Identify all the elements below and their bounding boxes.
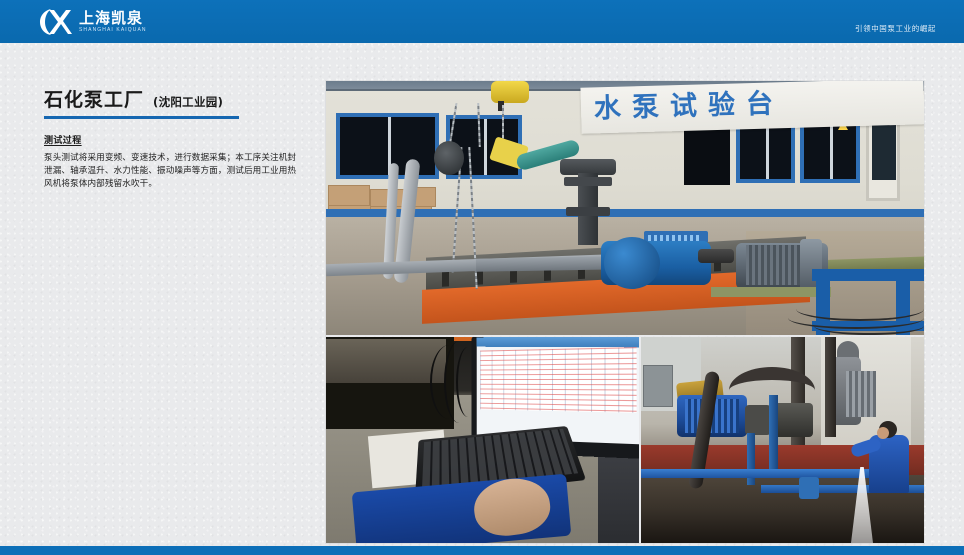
wooden-shelf — [326, 339, 446, 383]
motor-base-frame — [711, 287, 831, 297]
photo-pump-test-bench: 水泵试验台 — [326, 81, 924, 335]
entry-door — [866, 115, 900, 201]
photo-collage: 水泵试验台 — [326, 81, 924, 543]
electric-hoist — [491, 81, 529, 103]
motor-cooling-fins — [746, 245, 806, 285]
photo-br-scene — [641, 337, 924, 543]
pipe-flange — [434, 141, 464, 175]
window — [336, 113, 439, 179]
section-label: 测试过程 — [44, 133, 302, 146]
floor-shadow — [641, 507, 924, 543]
wall-panel-box — [643, 365, 673, 407]
photo-data-acquisition-station — [326, 337, 639, 543]
software-title-bar — [477, 337, 639, 347]
valve-flange — [564, 177, 612, 186]
blue-process-pipe — [641, 469, 891, 478]
valve-flange — [566, 207, 610, 216]
lifting-chain — [502, 105, 504, 141]
pump-volute — [604, 237, 660, 289]
blue-support-column — [769, 395, 778, 477]
carton — [328, 185, 370, 207]
text-column: 石化泵工厂 (沈阳工业园) 测试过程 泵头测试将采用变频、变速技术，进行数据采集… — [44, 85, 302, 191]
photo-bl-scene — [326, 337, 639, 543]
pump-shaft-coupling — [698, 249, 734, 263]
title-underline-rule — [44, 116, 239, 119]
worker-face — [877, 427, 889, 439]
slide-canvas: 石化泵工厂 (沈阳工业园) 测试过程 泵头测试将采用变频、变速技术，进行数据采集… — [0, 43, 964, 546]
brand-logo-text: 上海凯泉 SHANGHAI KAIQUAN — [79, 10, 147, 34]
photo-skid-piping-test — [641, 337, 924, 543]
brand-name-en: SHANGHAI KAIQUAN — [79, 27, 147, 34]
title-subtitle: (沈阳工业园) — [153, 94, 223, 110]
photo-top-scene: 水泵试验台 — [326, 81, 924, 335]
kaiquan-x-logo-icon — [38, 7, 72, 37]
worker — [869, 421, 909, 495]
vertical-pipe — [825, 337, 836, 437]
section-body-text: 泵头测试将采用变频、变速技术，进行数据采集；本工序关注机封泄漏、轴承温升、水力性… — [44, 152, 302, 191]
brand-name-cn: 上海凯泉 — [79, 10, 147, 26]
power-cable — [814, 317, 924, 335]
heat-exchanger — [846, 371, 876, 417]
header-slogan: 引领中国泵工业的崛起 — [855, 23, 936, 34]
title-main: 石化泵工厂 — [44, 85, 144, 112]
data-table-on-screen — [480, 347, 636, 413]
page-footer-bar — [0, 546, 964, 555]
blue-valve — [799, 477, 819, 499]
page-header: 上海凯泉 SHANGHAI KAIQUAN 引领中国泵工业的崛起 — [0, 0, 964, 43]
page-title: 石化泵工厂 (沈阳工业园) — [44, 85, 302, 112]
window — [800, 121, 860, 183]
brand-logo[interactable]: 上海凯泉 SHANGHAI KAIQUAN — [38, 6, 147, 38]
